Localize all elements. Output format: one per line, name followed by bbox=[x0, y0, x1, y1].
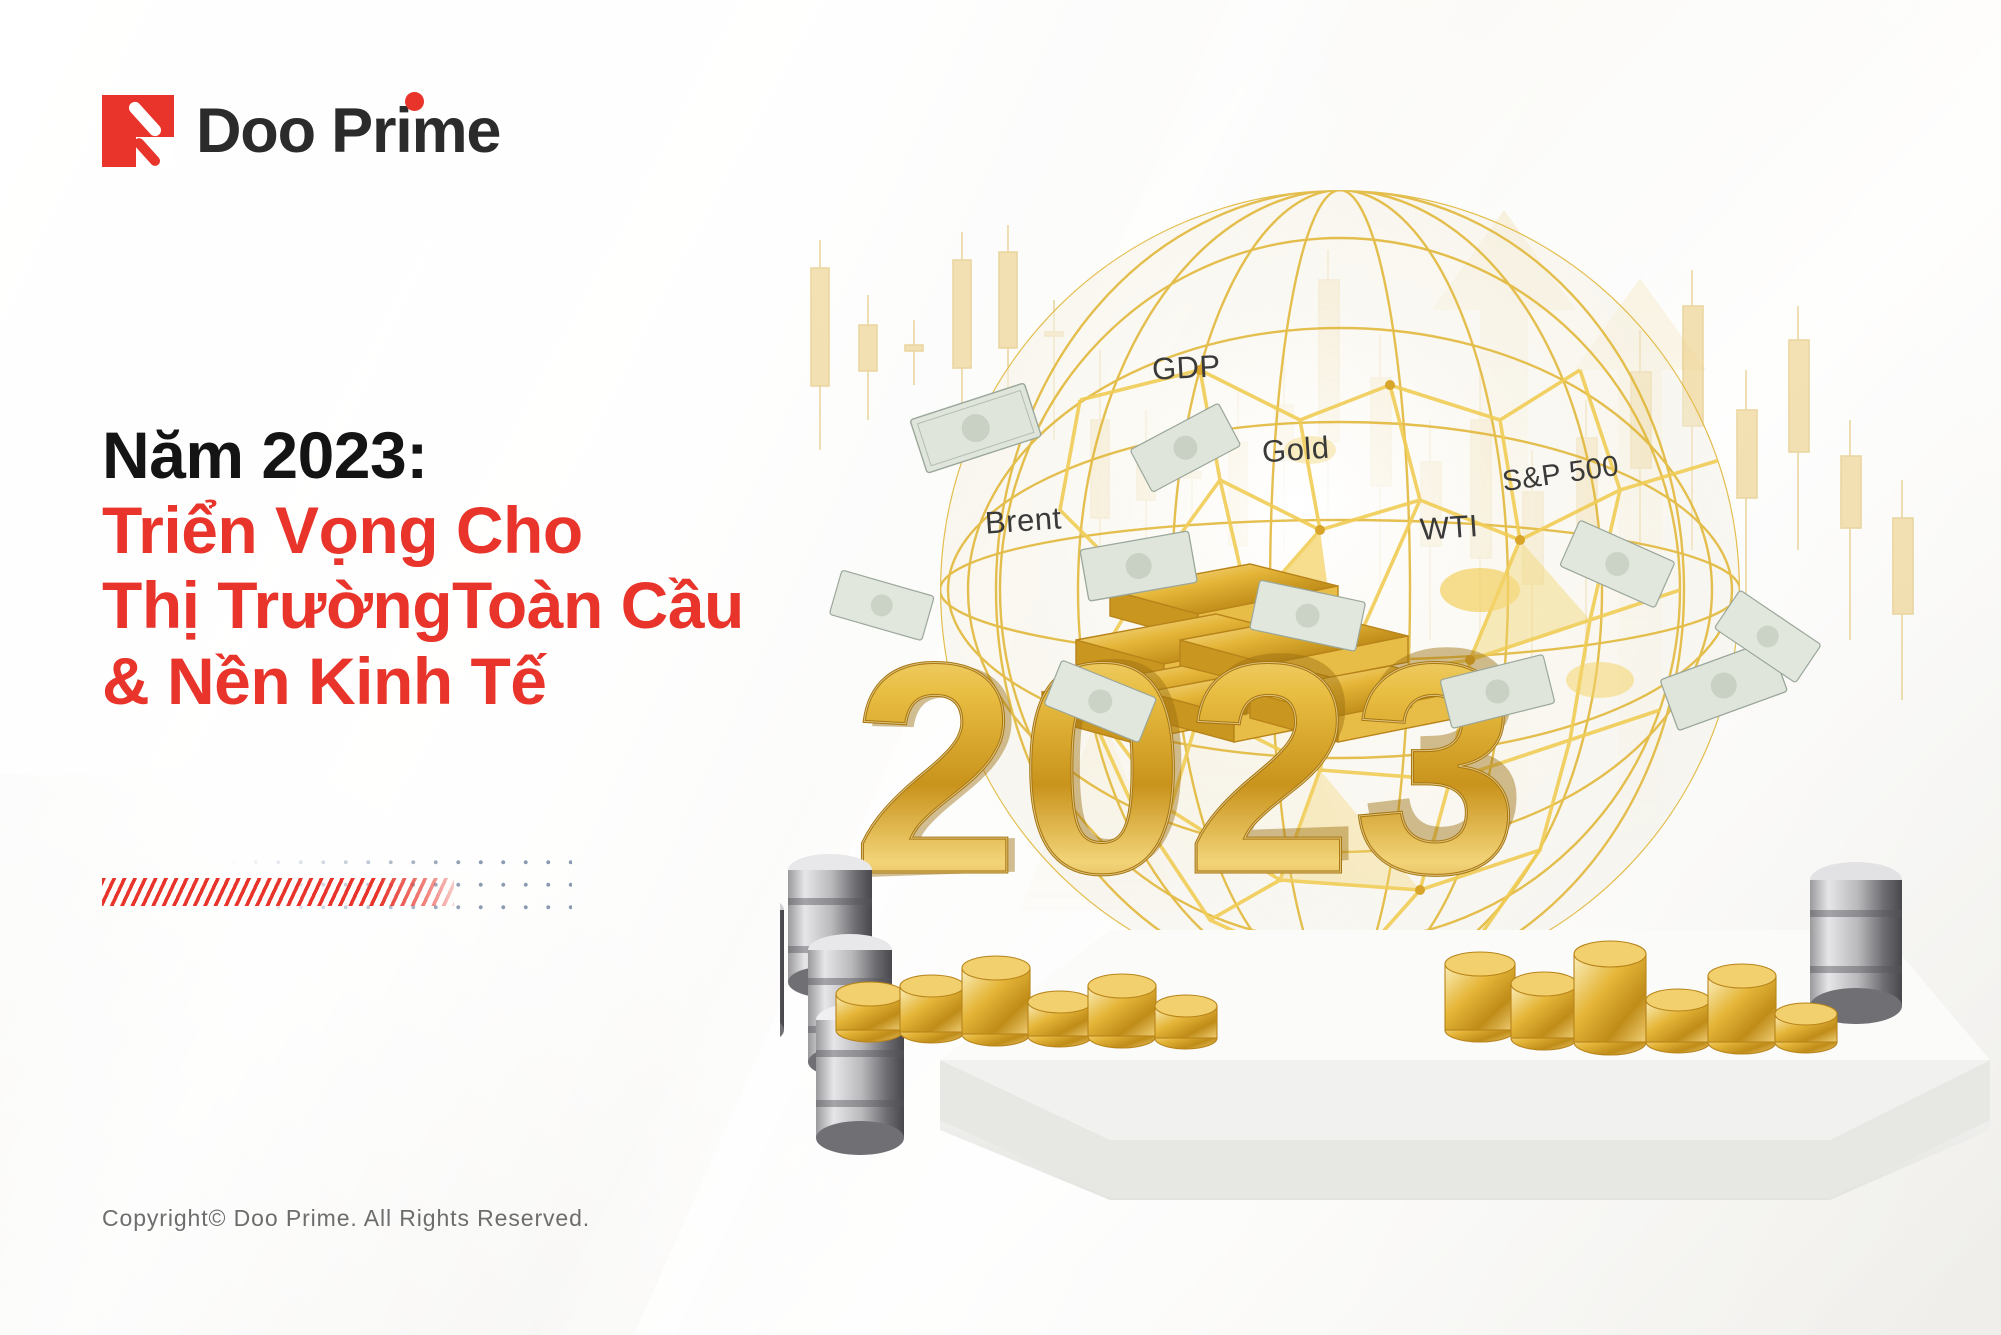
svg-text:2023: 2023 bbox=[852, 600, 1519, 936]
copyright-text: Copyright© Doo Prime. All Rights Reserve… bbox=[102, 1205, 590, 1232]
diagonal-stripe-bar bbox=[102, 878, 454, 906]
chart-label-brent: Brent bbox=[984, 500, 1063, 541]
chart-label-gdp: GDP bbox=[1151, 348, 1221, 388]
doo-prime-logo-mark-icon bbox=[102, 95, 174, 167]
headline-line-1: Năm 2023: bbox=[102, 418, 744, 493]
brand-logo-wordmark: Doo Prime bbox=[196, 100, 500, 163]
headline-line-4: & Nền Kinh Tế bbox=[102, 644, 744, 719]
chart-label-wti: WTI bbox=[1419, 508, 1480, 548]
chart-label-gold: Gold bbox=[1261, 430, 1331, 471]
poster-canvas: Doo Prime Năm 2023: Triển Vọng Cho Thị T… bbox=[0, 0, 2001, 1335]
page-title: Năm 2023: Triển Vọng Cho Thị TrườngToàn … bbox=[102, 418, 744, 719]
year-2023-3d-text: 2023 2023 2023 bbox=[852, 582, 1527, 941]
hero-illustration: 2023 2023 2023 bbox=[780, 120, 2001, 1220]
brand-logo[interactable]: Doo Prime bbox=[102, 95, 500, 167]
headline-line-2: Triển Vọng Cho bbox=[102, 493, 744, 568]
headline-line-3: Thị TrườngToàn Cầu bbox=[102, 568, 744, 643]
decorative-divider bbox=[102, 851, 572, 921]
